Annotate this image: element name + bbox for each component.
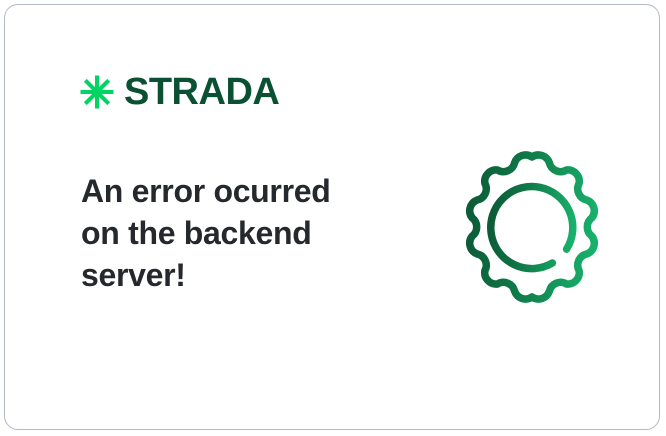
- error-message-text: An error ocurred on the backend server!: [81, 170, 371, 297]
- gear-cog-icon: [448, 141, 616, 309]
- error-card: STRADA An error ocurred on the backend s…: [4, 4, 660, 430]
- brand-lockup: STRADA: [79, 73, 279, 111]
- brand-wordmark: STRADA: [124, 73, 279, 111]
- asterisk-star-icon: [79, 74, 115, 110]
